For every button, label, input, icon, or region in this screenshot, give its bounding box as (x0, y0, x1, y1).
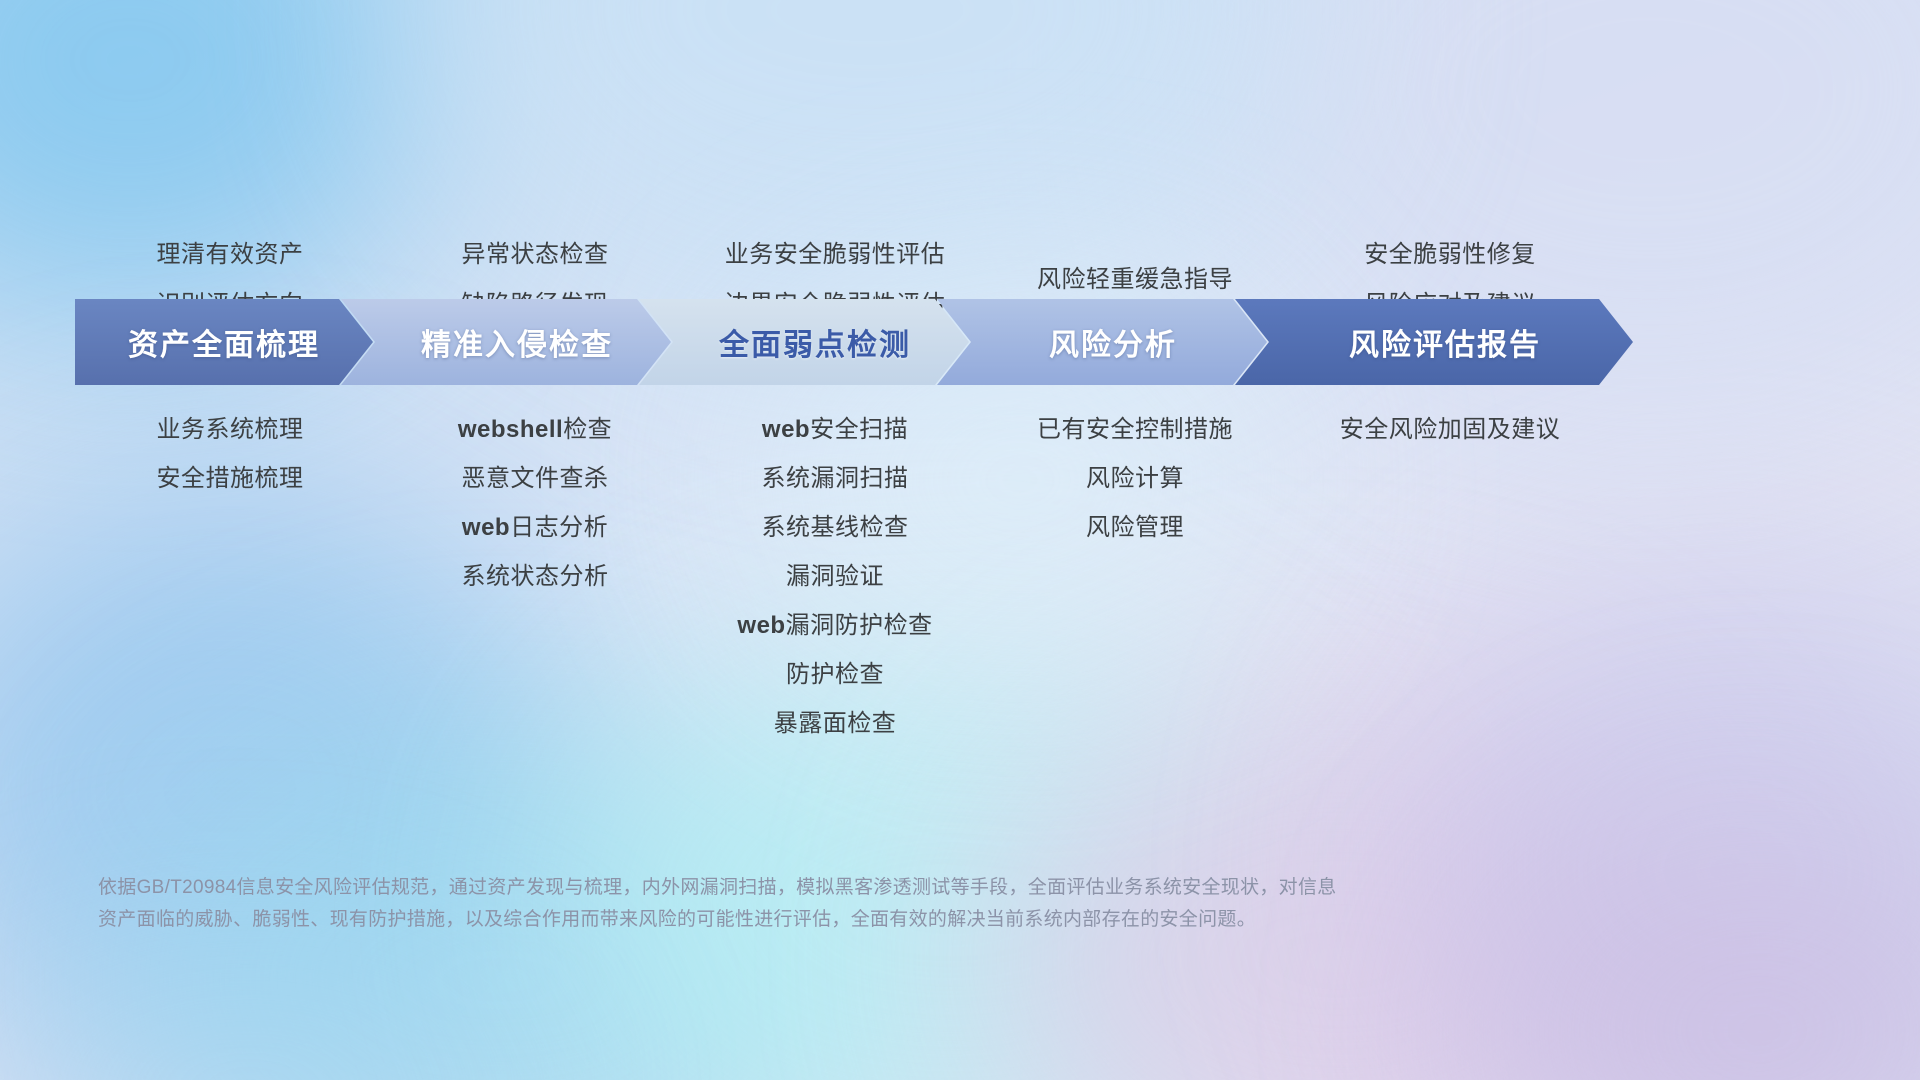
detail-prefix: web (462, 514, 510, 541)
detail-text: 恶意文件查杀 (462, 465, 609, 492)
stage-detail-item: 风险计算 (985, 454, 1285, 503)
stage-detail-item: 安全风险加固及建议 (1285, 405, 1615, 454)
footer-description: 依据GB/T20984信息安全风险评估规范，通过资产发现与梳理，内外网漏洞扫描，… (98, 872, 1698, 936)
stage-detail-item: 系统状态分析 (385, 552, 685, 601)
stage-detail-item: web漏洞防护检查 (685, 601, 985, 650)
detail-prefix: web (737, 612, 785, 639)
stage-detail-item: 已有安全控制措施 (985, 405, 1285, 454)
stage-title: 资产全面梳理 (128, 320, 320, 364)
detail-text: 暴露面检查 (774, 710, 897, 737)
detail-text: 日志分析 (510, 514, 608, 541)
stage-detail-item: 风险管理 (985, 503, 1285, 552)
stage-input-item: 风险轻重缓急指导 (985, 255, 1285, 305)
stage-details-2: webshell检查 恶意文件查杀 web日志分析 系统状态分析 (385, 405, 685, 601)
process-chevron-banner: 资产全面梳理 精准入侵检查 全面弱点检测 风险分析 风险评估报告 (75, 299, 1847, 385)
stage-detail-item: 系统基线检查 (685, 503, 985, 552)
detail-text: 系统基线检查 (762, 514, 909, 541)
stage-input-item: 理清有效资产 (75, 230, 385, 280)
detail-text: 检查 (563, 416, 612, 443)
stage-detail-item: 系统漏洞扫描 (685, 454, 985, 503)
process-stage-4[interactable]: 风险分析 (937, 299, 1267, 385)
process-diagram: 理清有效资产 识别评估方向 异常状态检查 缺陷路径发现 业务安全脆弱性评估 边界… (0, 0, 1920, 1080)
detail-text: 安全扫描 (810, 416, 908, 443)
stage-detail-item: 安全措施梳理 (75, 454, 385, 503)
stage-input-item: 业务安全脆弱性评估 (685, 230, 985, 280)
detail-text: 系统状态分析 (462, 563, 609, 590)
detail-text: 漏洞验证 (786, 563, 884, 590)
detail-text: 漏洞防护检查 (786, 612, 933, 639)
stage-input-item: 异常状态检查 (385, 230, 685, 280)
process-stage-1[interactable]: 资产全面梳理 (75, 299, 373, 385)
detail-text: 风险管理 (1086, 514, 1184, 541)
detail-text: 业务系统梳理 (157, 416, 304, 443)
process-stage-2[interactable]: 精准入侵检查 (341, 299, 671, 385)
stage-title: 全面弱点检测 (719, 320, 911, 364)
stage-detail-item: 业务系统梳理 (75, 405, 385, 454)
detail-text: 安全措施梳理 (157, 465, 304, 492)
detail-text: 安全风险加固及建议 (1340, 416, 1561, 443)
process-stage-3[interactable]: 全面弱点检测 (639, 299, 969, 385)
stage-detail-item: 暴露面检查 (685, 699, 985, 748)
detail-text: 已有安全控制措施 (1037, 416, 1233, 443)
detail-text: 防护检查 (786, 661, 884, 688)
stage-details-1: 业务系统梳理 安全措施梳理 (75, 405, 385, 503)
stage-detail-item: 漏洞验证 (685, 552, 985, 601)
stage-title: 风险评估报告 (1349, 320, 1541, 364)
stage-details-3: web安全扫描 系统漏洞扫描 系统基线检查 漏洞验证 web漏洞防护检查 防护检… (685, 405, 985, 748)
footer-line-1: 依据GB/T20984信息安全风险评估规范，通过资产发现与梳理，内外网漏洞扫描，… (98, 872, 1698, 904)
stage-title: 风险分析 (1049, 320, 1177, 364)
stage-detail-item: web日志分析 (385, 503, 685, 552)
stage-detail-item: web安全扫描 (685, 405, 985, 454)
stage-detail-item: webshell检查 (385, 405, 685, 454)
stage-title: 精准入侵检查 (421, 320, 613, 364)
detail-text: 系统漏洞扫描 (762, 465, 909, 492)
detail-prefix: web (762, 416, 810, 443)
process-stage-5[interactable]: 风险评估报告 (1235, 299, 1633, 385)
footer-line-2: 资产面临的威胁、脆弱性、现有防护措施，以及综合作用而带来风险的可能性进行评估，全… (98, 904, 1698, 936)
stage-details-4: 已有安全控制措施 风险计算 风险管理 (985, 405, 1285, 552)
stage-details-row: 业务系统梳理 安全措施梳理 webshell检查 恶意文件查杀 web日志分析 … (75, 405, 1845, 748)
stage-input-item: 安全脆弱性修复 (1285, 230, 1615, 280)
detail-prefix: webshell (458, 416, 563, 443)
stage-detail-item: 防护检查 (685, 650, 985, 699)
stage-details-5: 安全风险加固及建议 (1285, 405, 1615, 454)
detail-text: 风险计算 (1086, 465, 1184, 492)
stage-detail-item: 恶意文件查杀 (385, 454, 685, 503)
